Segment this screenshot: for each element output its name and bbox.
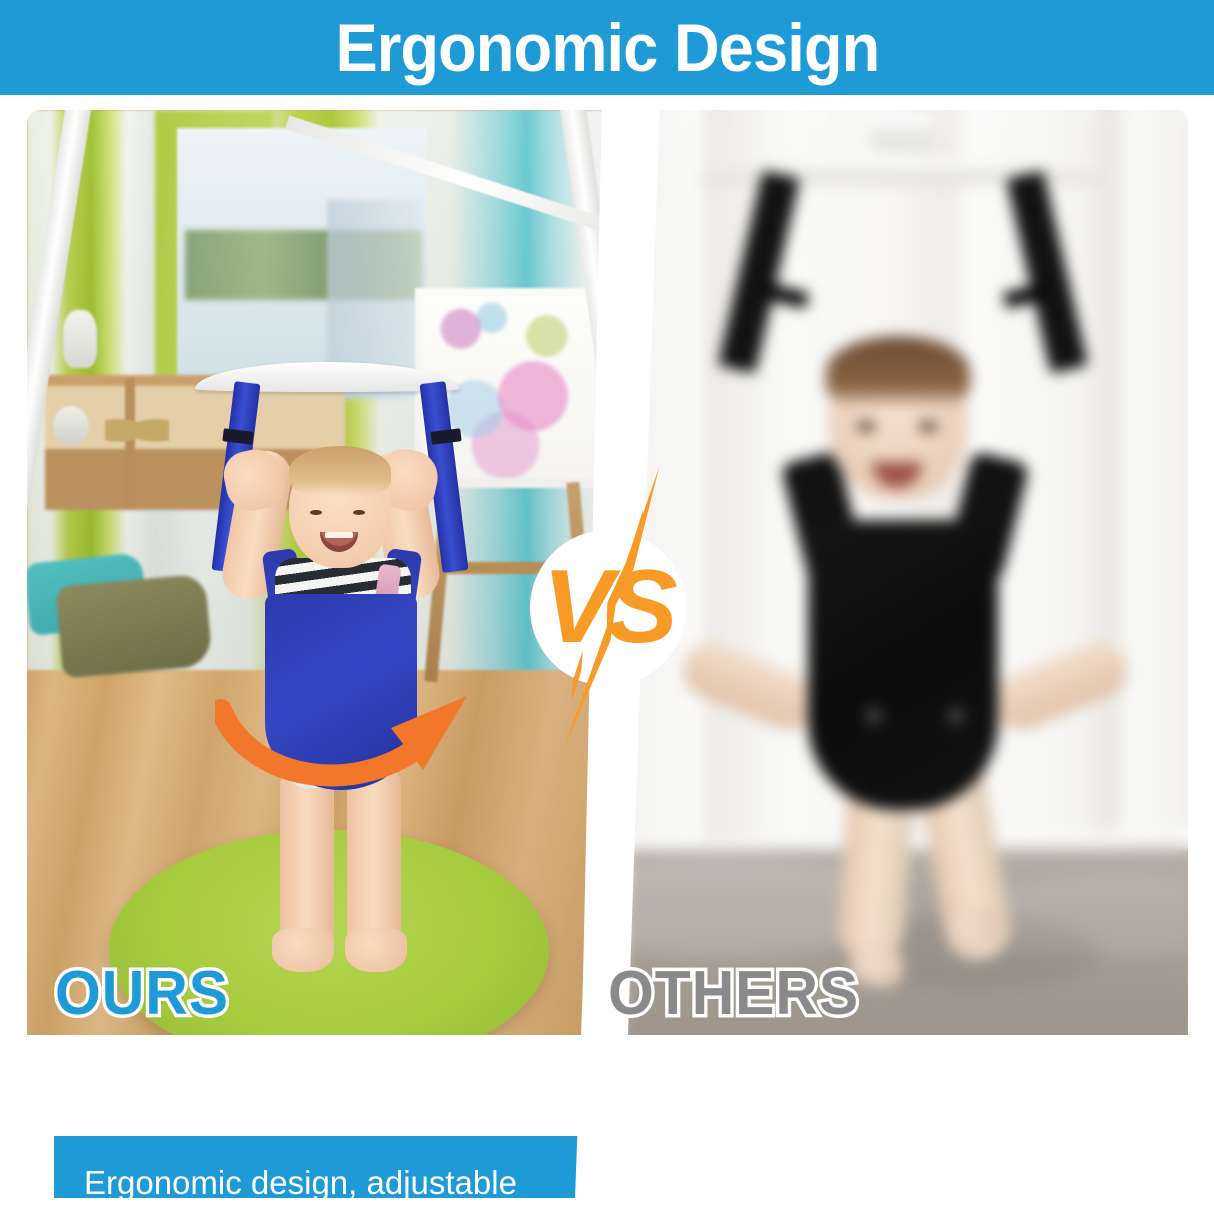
baby-teeth <box>325 532 353 538</box>
baby-eye-left <box>310 510 322 515</box>
page-title: Ergonomic Design <box>335 14 879 82</box>
label-ours: OURS <box>55 963 229 1025</box>
label-others: OTHERS <box>608 963 859 1025</box>
vs-badge: VS <box>512 512 702 702</box>
baby-eye-right <box>353 510 365 515</box>
baby-foot-left <box>272 928 334 972</box>
strap-buckle-right <box>430 428 461 445</box>
baby-foot-right <box>345 928 407 972</box>
product-comparison-page: Ergonomic Design <box>0 0 1214 1214</box>
ergonomic-support-arrow-icon <box>215 666 475 796</box>
vs-label: VS <box>510 512 704 702</box>
baby-hair <box>289 446 391 496</box>
header-bar: Ergonomic Design <box>0 0 1214 95</box>
caption-ours: Ergonomic design, adjustable size, ensur… <box>54 1136 615 1198</box>
caption-ours-text: Ergonomic design, adjustable size, ensur… <box>84 1164 543 1198</box>
